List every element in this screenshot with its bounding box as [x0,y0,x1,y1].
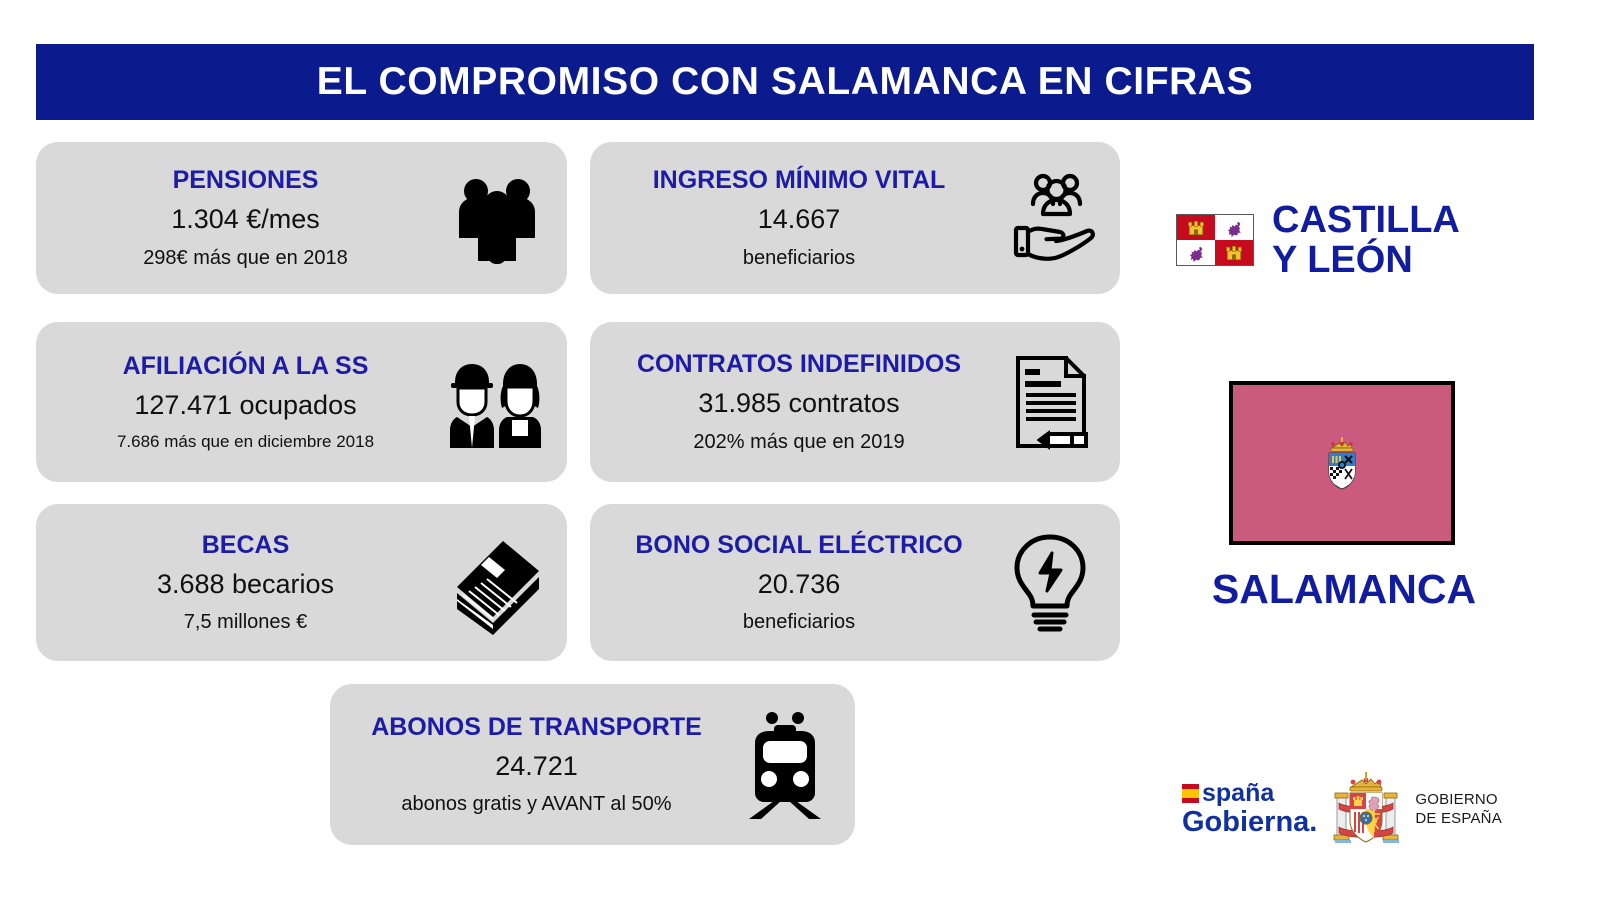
flag-quarter-castle-1 [1177,215,1215,240]
card-value: 31.985 contratos [698,388,899,419]
flag-quarter-lion-2 [1177,240,1215,265]
stat-card-becas: BECAS 3.688 becarios 7,5 millones € [36,504,567,661]
card-title: INGRESO MÍNIMO VITAL [653,166,946,194]
spain-coat-of-arms-icon [1329,769,1403,849]
card-note: abonos gratis y AVANT al 50% [401,793,671,816]
card-note: 7.686 más que en diciembre 2018 [117,432,374,452]
card-title: BONO SOCIAL ELÉCTRICO [635,531,962,559]
card-note: 298€ más que en 2018 [143,247,348,270]
card-text-block: INGRESO MÍNIMO VITAL 14.667 beneficiario… [600,166,998,269]
stat-card-abonos-transporte: ABONOS DE TRANSPORTE 24.721 abonos grati… [330,684,855,845]
card-note: 7,5 millones € [184,611,307,634]
gobierno-line2: DE ESPAÑA [1415,809,1502,828]
card-title: CONTRATOS INDEFINIDOS [637,350,961,378]
card-text-block: PENSIONES 1.304 €/mes 298€ más que en 20… [46,166,445,269]
card-value: 14.667 [758,204,841,235]
espana-label: spaña [1202,781,1274,806]
card-value: 127.471 ocupados [134,390,356,421]
castilla-y-leon-label: CASTILLA Y LEÓN [1272,200,1460,281]
stat-card-contratos-indefinidos: CONTRATOS INDEFINIDOS 31.985 contratos 2… [590,322,1120,482]
castilla-y-leon-block: CASTILLA Y LEÓN [1176,182,1506,298]
card-value: 1.304 €/mes [171,204,320,235]
hand-holding-people-icon [998,166,1102,270]
salamanca-coat-of-arms [1320,434,1364,492]
card-title: ABONOS DE TRANSPORTE [371,713,702,741]
card-note: beneficiarios [743,611,855,634]
stat-card-pensiones: PENSIONES 1.304 €/mes 298€ más que en 20… [36,142,567,294]
gobierno-de-espana-label: GOBIERNO DE ESPAÑA [1415,790,1502,828]
books-stack-icon [445,531,549,635]
card-text-block: BONO SOCIAL ELÉCTRICO 20.736 beneficiari… [600,531,998,634]
gobierna-label: Gobierna. [1182,808,1317,837]
card-text-block: AFILIACIÓN A LA SS 127.471 ocupados 7.68… [46,352,445,452]
gobierno-line1: GOBIERNO [1415,790,1502,809]
card-text-block: BECAS 3.688 becarios 7,5 millones € [46,531,445,634]
lightbulb-bolt-icon [998,531,1102,635]
card-text-block: ABONOS DE TRANSPORTE 24.721 abonos grati… [340,713,733,816]
stat-card-ingreso-minimo-vital: INGRESO MÍNIMO VITAL 14.667 beneficiario… [590,142,1120,294]
card-value: 20.736 [758,569,841,600]
card-value: 3.688 becarios [157,569,334,600]
document-pen-icon [998,350,1102,454]
page-title-banner: EL COMPROMISO CON SALAMANCA EN CIFRAS [36,44,1534,120]
salamanca-label: SALAMANCA [1176,566,1512,613]
two-workers-icon [445,350,549,454]
page-title: EL COMPROMISO CON SALAMANCA EN CIFRAS [317,60,1254,104]
card-note: 202% más que en 2019 [693,431,904,454]
train-icon [733,713,837,817]
card-text-block: CONTRATOS INDEFINIDOS 31.985 contratos 2… [600,350,998,453]
flag-quarter-castle-2 [1215,240,1253,265]
card-title: PENSIONES [173,166,319,194]
gobierno-de-espana-logo: spaña Gobierna. [1182,768,1522,850]
castilla-label-line1: CASTILLA [1272,200,1460,240]
stat-card-afiliacion-ss: AFILIACIÓN A LA SS 127.471 ocupados 7.68… [36,322,567,482]
card-title: BECAS [202,531,290,559]
card-value: 24.721 [495,751,578,782]
three-people-icon [445,166,549,270]
spain-flag-stripes-icon [1182,784,1199,803]
stat-card-bono-social-electrico: BONO SOCIAL ELÉCTRICO 20.736 beneficiari… [590,504,1120,661]
salamanca-flag-icon [1229,381,1455,545]
card-note: beneficiarios [743,247,855,270]
espana-line: spaña [1182,781,1317,806]
castilla-label-line2: Y LEÓN [1272,240,1460,280]
flag-quarter-lion-1 [1215,215,1253,240]
card-title: AFILIACIÓN A LA SS [123,352,369,380]
castilla-y-leon-flag-icon [1176,214,1254,266]
espana-gobierna-lockup: spaña Gobierna. [1182,781,1317,837]
